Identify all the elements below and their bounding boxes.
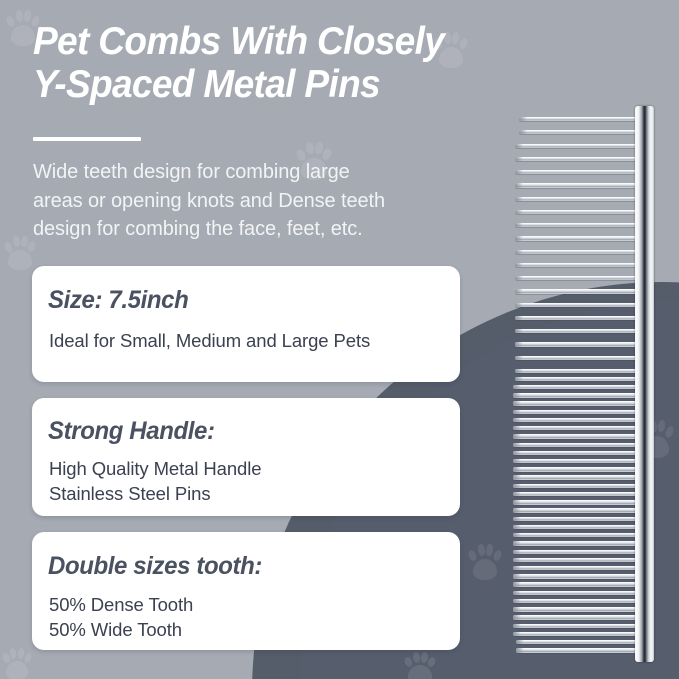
comb-pin-dense	[513, 451, 651, 455]
feature-card-body: 50% Dense Tooth 50% Wide Tooth	[49, 592, 193, 642]
comb-pin-dense	[513, 492, 651, 496]
comb-pin-dense	[513, 459, 651, 463]
feature-card-body: High Quality Metal Handle Stainless Stee…	[49, 456, 261, 506]
comb-pin-dense	[515, 377, 651, 381]
paw-toe-pad	[12, 236, 20, 248]
comb-pin-dense	[513, 500, 651, 504]
paw-toe-pad	[23, 9, 32, 22]
paw-toe-pad	[314, 142, 323, 155]
comb-pin-dense	[513, 533, 651, 537]
comb-pin-dense	[513, 443, 651, 447]
comb-pin-dense	[513, 582, 651, 586]
comb-pin-dense	[513, 550, 651, 554]
comb-pin-wide	[515, 303, 651, 307]
comb-pin-dense	[513, 418, 651, 422]
infographic-canvas: Pet Combs With Closely Y-Spaced Metal Pi…	[0, 0, 679, 679]
comb-pin-dense	[513, 385, 651, 389]
comb-pin-wide	[515, 276, 651, 280]
paw-print-icon	[2, 646, 32, 679]
comb-pin-wide	[515, 157, 651, 161]
comb-pin-dense	[513, 393, 651, 397]
comb-pin-dense	[516, 648, 651, 652]
comb-pin-dense	[515, 369, 651, 373]
paw-toe-pad	[485, 543, 494, 556]
comb-pin-dense	[513, 434, 651, 438]
page-title: Pet Combs With Closely Y-Spaced Metal Pi…	[33, 20, 565, 106]
comb-pin-wide	[515, 263, 651, 267]
feature-card-tooth: Double sizes tooth: 50% Dense Tooth 50% …	[32, 532, 460, 650]
paw-toe-pad	[15, 10, 24, 23]
comb-pins	[497, 116, 651, 656]
comb-pin-dense	[513, 508, 651, 512]
comb-pin-wide	[519, 117, 651, 121]
feature-card-body: Ideal for Small, Medium and Large Pets	[49, 328, 370, 353]
comb-pin-wide	[515, 183, 651, 187]
comb-spine-highlight	[636, 108, 639, 660]
comb-pin-dense	[513, 615, 651, 619]
comb-pin-wide	[515, 223, 651, 227]
comb-pin-dense	[513, 426, 651, 430]
feature-card-size: Size: 7.5inch Ideal for Small, Medium an…	[32, 266, 460, 382]
paw-print-icon	[404, 650, 436, 679]
comb-pin-dense	[513, 467, 651, 471]
paw-toe-pad	[17, 647, 25, 658]
title-divider	[33, 137, 141, 141]
comb-pin-dense	[516, 640, 651, 644]
feature-card-heading: Size: 7.5inch	[48, 286, 188, 314]
comb-pin-dense	[513, 517, 651, 521]
feature-card-heading: Strong Handle:	[48, 417, 215, 445]
comb-pin-dense	[513, 574, 651, 578]
comb-pin-wide	[515, 316, 651, 320]
product-image-comb	[497, 106, 679, 664]
feature-card-handle: Strong Handle: High Quality Metal Handle…	[32, 398, 460, 516]
comb-pin-wide	[515, 210, 651, 214]
comb-pin-wide	[515, 144, 651, 148]
paw-toe-pad	[427, 656, 437, 668]
paw-toe-pad	[305, 142, 314, 155]
comb-pin-dense	[513, 410, 651, 414]
comb-pin-dense	[513, 558, 651, 562]
feature-card-heading: Double sizes tooth:	[48, 552, 262, 580]
comb-pin-dense	[513, 541, 651, 545]
paw-toe-pad	[23, 652, 33, 664]
paw-main-pad	[473, 559, 497, 580]
comb-pin-dense	[513, 566, 651, 570]
comb-pin-dense	[513, 624, 651, 628]
paw-print-icon	[4, 234, 36, 270]
paw-main-pad	[8, 250, 31, 270]
comb-pin-wide	[515, 250, 651, 254]
comb-pin-wide	[515, 356, 651, 360]
paw-toe-pad	[477, 544, 486, 557]
comb-pin-wide	[515, 329, 651, 333]
comb-pin-dense	[513, 591, 651, 595]
comb-pin-dense	[513, 599, 651, 603]
paw-toe-pad	[412, 652, 420, 663]
comb-pin-wide	[515, 289, 651, 293]
comb-pin-dense	[513, 607, 651, 611]
comb-pin-dense	[513, 401, 651, 405]
comb-pin-dense	[513, 525, 651, 529]
comb-pin-wide	[515, 197, 651, 201]
paw-main-pad	[408, 665, 431, 679]
comb-pin-wide	[515, 170, 651, 174]
comb-pin-wide	[515, 342, 651, 346]
comb-pin-wide	[515, 236, 651, 240]
comb-pin-dense	[513, 484, 651, 488]
comb-pin-dense	[513, 632, 651, 636]
comb-pin-dense	[513, 475, 651, 479]
paw-toe-pad	[10, 648, 18, 659]
page-subtitle: Wide teeth design for combing large area…	[33, 158, 463, 244]
comb-pin-wide	[519, 130, 651, 134]
paw-main-pad	[11, 25, 35, 46]
paw-main-pad	[6, 661, 28, 679]
